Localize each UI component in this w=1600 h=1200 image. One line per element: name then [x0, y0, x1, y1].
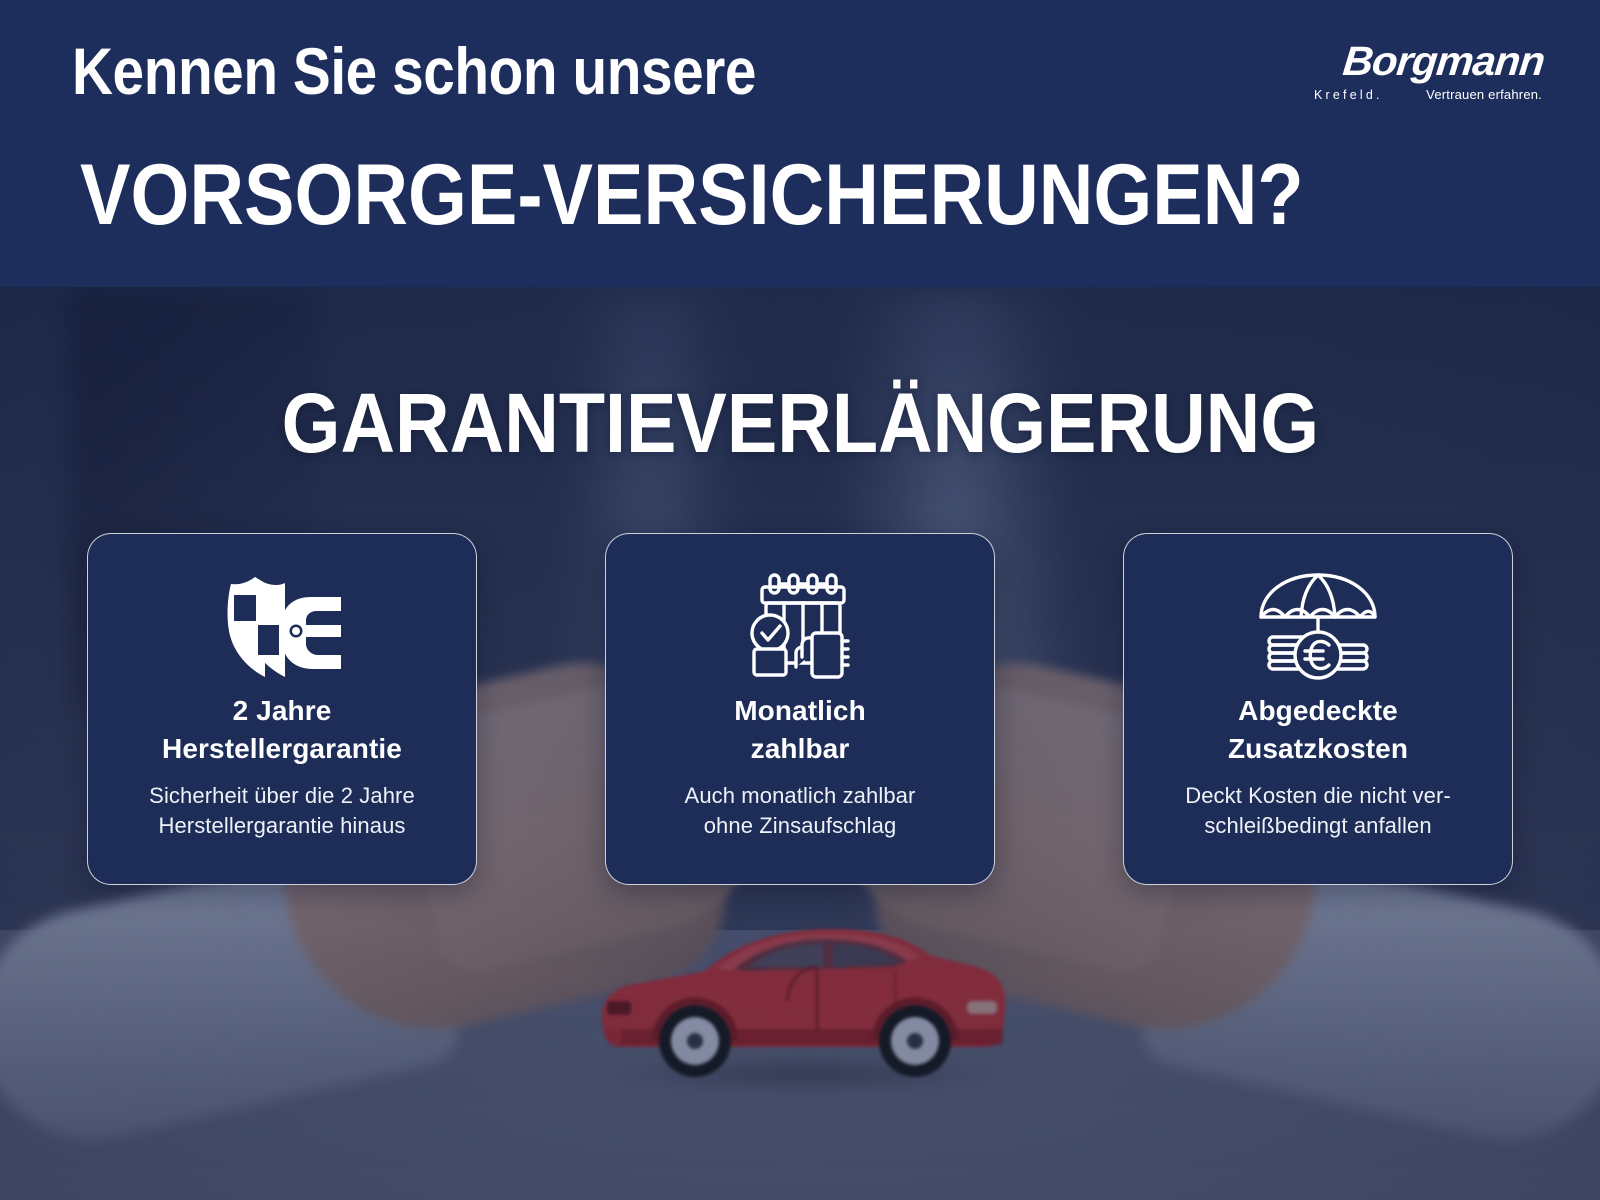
feature-card-warranty[interactable]: 2 Jahre Herstellergarantie Sicherheit üb…	[87, 533, 477, 885]
card-title-line1: Abgedeckte	[1228, 692, 1408, 730]
card-title: 2 Jahre Herstellergarantie	[162, 692, 402, 768]
calendar-check-money-icon	[742, 568, 858, 686]
feature-cards: 2 Jahre Herstellergarantie Sicherheit üb…	[0, 533, 1600, 885]
card-desc-line2: ohne Zinsaufschlag	[685, 811, 916, 841]
card-title-line2: Herstellergarantie	[162, 730, 402, 768]
card-description: Sicherheit über die 2 Jahre Herstellerga…	[149, 781, 415, 841]
card-title-line2: Zusatzkosten	[1228, 730, 1408, 768]
card-description: Auch monatlich zahlbar ohne Zinsaufschla…	[685, 781, 916, 841]
umbrella-euro-coins-icon	[1255, 568, 1381, 686]
feature-card-monthly[interactable]: Monatlich zahlbar Auch monatlich zahlbar…	[605, 533, 995, 885]
logo-claim: Vertrauen erfahren.	[1426, 87, 1542, 102]
card-title: Monatlich zahlbar	[734, 692, 866, 768]
logo-city: Krefeld.	[1314, 88, 1383, 102]
card-description: Deckt Kosten die nicht ver- schleißbedin…	[1185, 781, 1451, 841]
logo-wordmark: Borgmann	[1309, 38, 1546, 84]
card-title-line2: zahlbar	[734, 730, 866, 768]
main-headline-text: GARANTIEVERLÄNGERUNG	[281, 375, 1318, 472]
card-title-line1: Monatlich	[734, 692, 866, 730]
header-band: Kennen Sie schon unsere VORSORGE-VERSICH…	[0, 0, 1600, 287]
main-headline: GARANTIEVERLÄNGERUNG	[0, 375, 1600, 472]
header-subtitle: Kennen Sie schon unsere	[72, 33, 756, 109]
card-desc-line1: Sicherheit über die 2 Jahre	[149, 781, 415, 811]
card-desc-line2: Herstellergarantie hinaus	[149, 811, 415, 841]
card-title: Abgedeckte Zusatzkosten	[1228, 692, 1408, 768]
card-desc-line2: schleißbedingt anfallen	[1185, 811, 1451, 841]
shield-car-icon	[217, 568, 347, 686]
logo-subline: Krefeld. Vertrauen erfahren.	[1314, 87, 1542, 102]
feature-card-extra-costs[interactable]: Abgedeckte Zusatzkosten Deckt Kosten die…	[1123, 533, 1513, 885]
borgmann-logo[interactable]: Borgmann Krefeld. Vertrauen erfahren.	[1314, 38, 1542, 108]
card-desc-line1: Auch monatlich zahlbar	[685, 781, 916, 811]
header-title: VORSORGE-VERSICHERUNGEN?	[80, 146, 1304, 245]
card-desc-line1: Deckt Kosten die nicht ver-	[1185, 781, 1451, 811]
card-title-line1: 2 Jahre	[162, 692, 402, 730]
